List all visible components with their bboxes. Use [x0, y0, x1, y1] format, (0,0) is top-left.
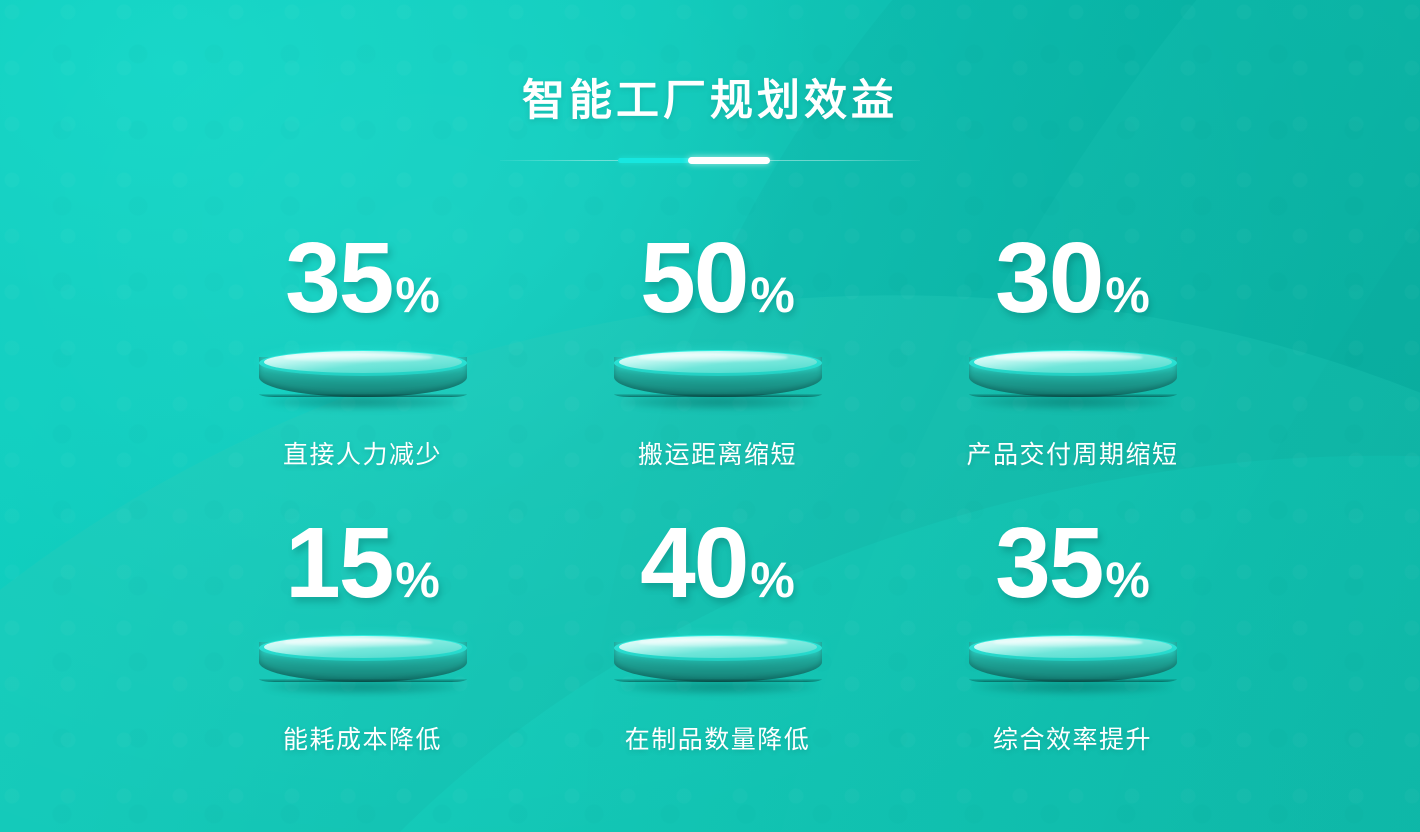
- stat-card-5: 40 % 在制品数量降低: [540, 513, 895, 798]
- podium-gloss-2: [638, 353, 788, 362]
- podium-2: [614, 346, 822, 408]
- stat-number-5: 40: [640, 513, 747, 613]
- stat-number-2: 50: [640, 228, 747, 328]
- stat-card-6: 35 % 综合效率提升: [895, 513, 1250, 798]
- stat-card-2: 50 % 搬运距离缩短: [540, 228, 895, 513]
- podium-3: [969, 346, 1177, 408]
- stat-caption-3: 产品交付周期缩短: [966, 435, 1178, 471]
- stat-caption-6: 综合效率提升: [993, 720, 1152, 756]
- header: 智能工厂规划效益: [0, 78, 1420, 165]
- stat-value-1: 35 %: [285, 228, 440, 340]
- stat-caption-4: 能耗成本降低: [283, 720, 442, 756]
- divider-accent-segment: [618, 158, 690, 163]
- podium-1: [259, 346, 467, 408]
- stat-card-4: 15 % 能耗成本降低: [185, 513, 540, 798]
- stat-unit-3: %: [1105, 270, 1149, 320]
- stat-caption-5: 在制品数量降低: [625, 720, 811, 756]
- stat-card-3: 30 % 产品交付周期缩短: [895, 228, 1250, 513]
- stat-number-6: 35: [995, 513, 1102, 613]
- stats-grid: 35 % 直接人力减少 50 %: [185, 228, 1250, 798]
- stat-unit-1: %: [395, 270, 439, 320]
- stat-value-3: 30 %: [995, 228, 1150, 340]
- podium-gloss-3: [993, 353, 1143, 362]
- stat-value-2: 50 %: [640, 228, 795, 340]
- stat-unit-4: %: [395, 555, 439, 605]
- stat-value-6: 35 %: [995, 513, 1150, 625]
- stat-value-4: 15 %: [285, 513, 440, 625]
- stat-unit-2: %: [750, 270, 794, 320]
- stat-number-3: 30: [995, 228, 1102, 328]
- podium-gloss-4: [283, 638, 433, 647]
- stat-number-4: 15: [285, 513, 392, 613]
- title-divider: [500, 157, 920, 165]
- stat-caption-2: 搬运距离缩短: [638, 435, 797, 471]
- podium-4: [259, 631, 467, 693]
- infographic-canvas: 智能工厂规划效益 35 % 直接人力减少 50: [0, 0, 1420, 832]
- stat-number-1: 35: [285, 228, 392, 328]
- stat-caption-1: 直接人力减少: [283, 435, 442, 471]
- podium-gloss-1: [283, 353, 433, 362]
- podium-6: [969, 631, 1177, 693]
- stat-card-1: 35 % 直接人力减少: [185, 228, 540, 513]
- podium-gloss-6: [993, 638, 1143, 647]
- divider-highlight-segment: [688, 157, 770, 164]
- stat-unit-6: %: [1105, 555, 1149, 605]
- stat-unit-5: %: [750, 555, 794, 605]
- podium-gloss-5: [638, 638, 788, 647]
- stat-value-5: 40 %: [640, 513, 795, 625]
- podium-5: [614, 631, 822, 693]
- page-title: 智能工厂规划效益: [0, 78, 1420, 125]
